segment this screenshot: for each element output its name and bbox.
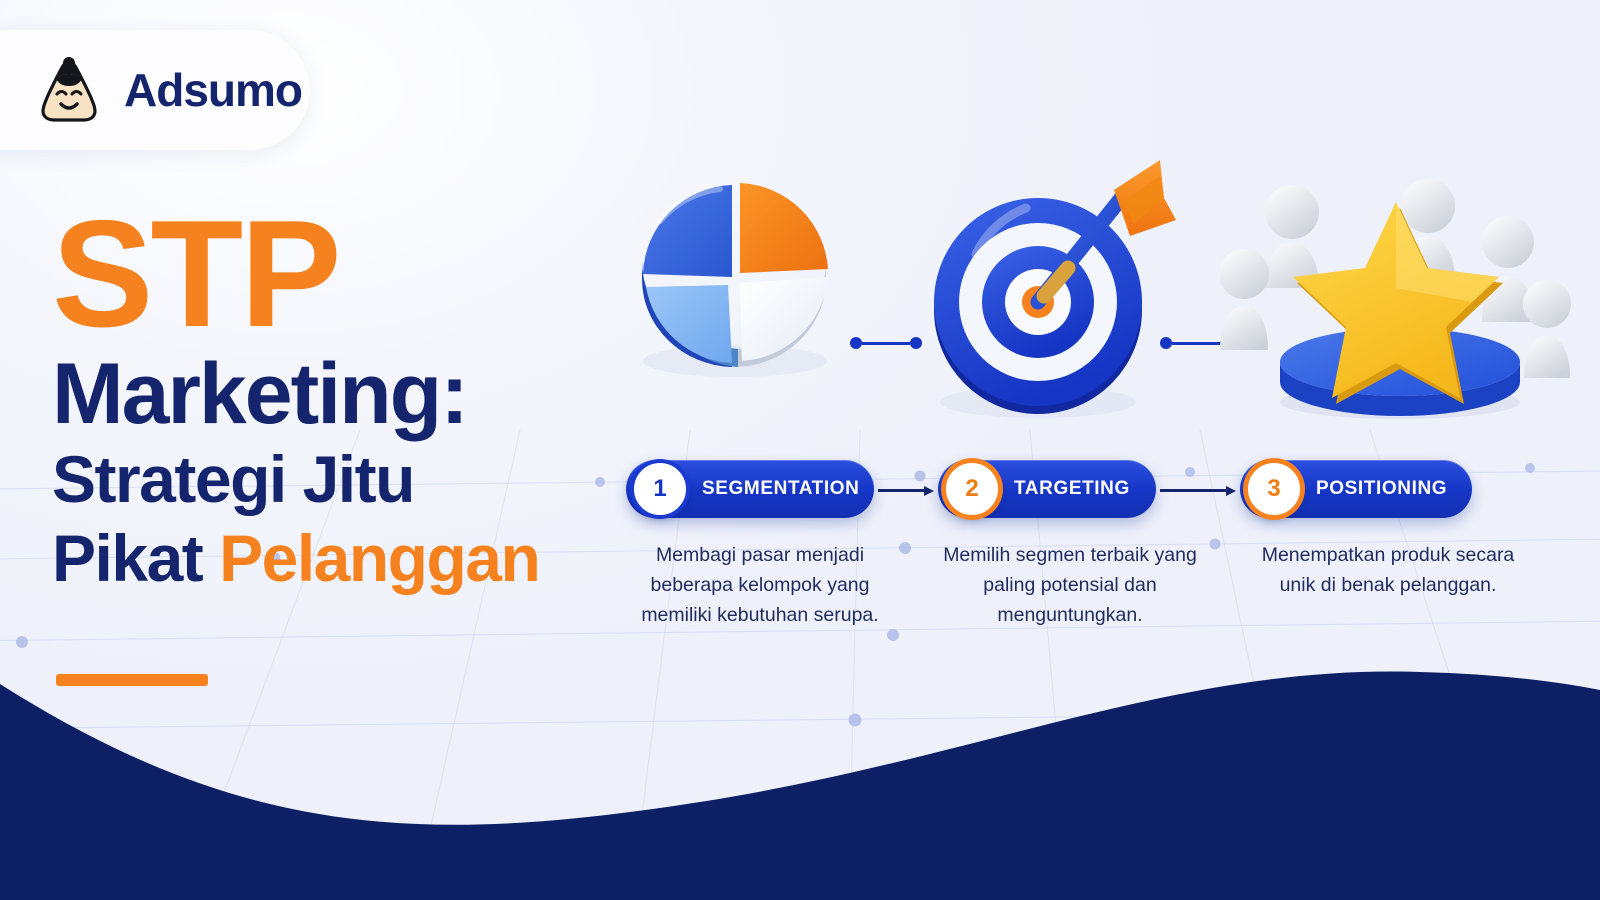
pie-chart-3d-icon [620,165,850,395]
step-description-targeting: Memilih segmen terbaik yang paling poten… [930,540,1210,631]
headline-pelanggan: Pelanggan [219,521,539,595]
step-arrow-1-to-2 [878,486,936,494]
step-pill-targeting[interactable]: 2 TARGETING [938,460,1156,518]
connector-line-1 [850,336,922,350]
sumo-face-icon [32,53,106,127]
step-badge-1: 1 [634,463,686,515]
arrow-head [1226,486,1236,496]
arrow-shaft [878,489,926,492]
step-label-targeting: TARGETING [1014,478,1130,500]
connector-segment [862,342,910,345]
page-title: STP Marketing: Strategi Jitu Pikat Pelan… [52,205,632,598]
step-pill-row: 1 SEGMENTATION 2 TARGETING 3 POSITIONING [620,460,1490,530]
headline-stp: STP [52,205,632,345]
step-description-segmentation: Membagi pasar menjadi beberapa kelompok … [620,540,900,631]
headline-marketing: Marketing: [52,351,632,439]
connector-segment [1172,342,1220,345]
connector-dot [1160,337,1172,349]
step-label-positioning: POSITIONING [1316,478,1447,500]
infographic-canvas: Adsumo STP Marketing: Strategi Jitu Pika… [0,0,1600,900]
illustration-row [600,140,1590,440]
step-arrow-2-to-3 [1160,486,1238,494]
step-pill-positioning[interactable]: 3 POSITIONING [1240,460,1472,518]
star-podium-crowd-3d-icon [1220,170,1580,420]
headline-pikat: Pikat [52,521,219,595]
headline-subline-1: Strategi Jitu [52,441,632,519]
brand-name: Adsumo [124,63,302,117]
step-description-row: Membagi pasar menjadi beberapa kelompok … [600,540,1590,640]
step-description-positioning: Menempatkan produk secara unik di benak … [1248,540,1528,600]
brand-logo[interactable]: Adsumo [0,30,310,150]
arrow-head [924,486,934,496]
step-label-segmentation: SEGMENTATION [702,478,859,500]
connector-dot [850,337,862,349]
step-pill-segmentation[interactable]: 1 SEGMENTATION [626,460,874,518]
headline-subline-2: Pikat Pelanggan [52,520,632,598]
step-badge-3: 3 [1248,463,1300,515]
arrow-shaft [1160,489,1228,492]
step-badge-2: 2 [946,463,998,515]
target-arrow-3d-icon [918,150,1188,430]
footer-wave-decoration [0,640,1600,900]
